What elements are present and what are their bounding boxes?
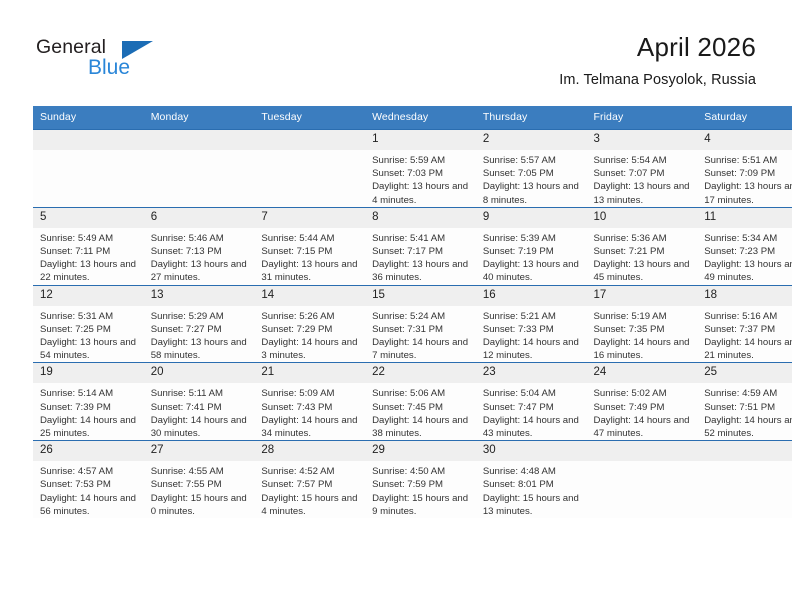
calendar-day-cell[interactable]: 17Sunrise: 5:19 AMSunset: 7:35 PMDayligh… xyxy=(587,285,698,363)
day-number: 16 xyxy=(476,286,587,306)
sunrise-text: Sunrise: 5:04 AM xyxy=(483,387,582,400)
daylight-text: Daylight: 13 hours and 58 minutes. xyxy=(151,336,250,362)
day-details: Sunrise: 5:34 AMSunset: 7:23 PMDaylight:… xyxy=(697,228,792,285)
day-details: Sunrise: 5:54 AMSunset: 7:07 PMDaylight:… xyxy=(587,150,698,207)
sunset-text: Sunset: 7:23 PM xyxy=(704,245,792,258)
sunset-text: Sunset: 7:31 PM xyxy=(372,323,471,336)
sunrise-text: Sunrise: 5:24 AM xyxy=(372,310,471,323)
daylight-text: Daylight: 13 hours and 49 minutes. xyxy=(704,258,792,284)
day-details: Sunrise: 5:16 AMSunset: 7:37 PMDaylight:… xyxy=(697,306,792,363)
daylight-text: Daylight: 14 hours and 56 minutes. xyxy=(40,492,139,518)
sunset-text: Sunset: 7:27 PM xyxy=(151,323,250,336)
title-block: April 2026 Im. Telmana Posyolok, Russia xyxy=(559,32,756,90)
calendar-cell-empty xyxy=(254,130,365,208)
day-details: Sunrise: 5:09 AMSunset: 7:43 PMDaylight:… xyxy=(254,383,365,440)
weekday-header-friday: Friday xyxy=(587,106,698,130)
calendar-day-cell[interactable]: 15Sunrise: 5:24 AMSunset: 7:31 PMDayligh… xyxy=(365,285,476,363)
calendar-day-cell[interactable]: 25Sunrise: 4:59 AMSunset: 7:51 PMDayligh… xyxy=(697,363,792,441)
calendar-day-cell[interactable]: 12Sunrise: 5:31 AMSunset: 7:25 PMDayligh… xyxy=(33,285,144,363)
calendar-week-row: 1Sunrise: 5:59 AMSunset: 7:03 PMDaylight… xyxy=(33,130,792,208)
daylight-text: Daylight: 15 hours and 0 minutes. xyxy=(151,492,250,518)
day-details: Sunrise: 5:51 AMSunset: 7:09 PMDaylight:… xyxy=(697,150,792,207)
sunset-text: Sunset: 7:19 PM xyxy=(483,245,582,258)
sunset-text: Sunset: 7:55 PM xyxy=(151,478,250,491)
sunrise-text: Sunrise: 4:55 AM xyxy=(151,465,250,478)
sunrise-text: Sunrise: 4:50 AM xyxy=(372,465,471,478)
sunset-text: Sunset: 7:11 PM xyxy=(40,245,139,258)
day-details: Sunrise: 5:36 AMSunset: 7:21 PMDaylight:… xyxy=(587,228,698,285)
sunset-text: Sunset: 7:39 PM xyxy=(40,401,139,414)
calendar-day-cell[interactable]: 13Sunrise: 5:29 AMSunset: 7:27 PMDayligh… xyxy=(144,285,255,363)
day-details: Sunrise: 5:29 AMSunset: 7:27 PMDaylight:… xyxy=(144,306,255,363)
day-details: Sunrise: 5:41 AMSunset: 7:17 PMDaylight:… xyxy=(365,228,476,285)
day-number: 14 xyxy=(254,286,365,306)
sunrise-text: Sunrise: 5:34 AM xyxy=(704,232,792,245)
sunset-text: Sunset: 7:09 PM xyxy=(704,167,792,180)
sunrise-text: Sunrise: 5:46 AM xyxy=(151,232,250,245)
sunset-text: Sunset: 7:57 PM xyxy=(261,478,360,491)
calendar-grid: Sunday Monday Tuesday Wednesday Thursday… xyxy=(33,106,792,518)
sunrise-text: Sunrise: 5:14 AM xyxy=(40,387,139,400)
page-header: General Blue April 2026 Im. Telmana Posy… xyxy=(0,0,792,106)
day-details: Sunrise: 5:11 AMSunset: 7:41 PMDaylight:… xyxy=(144,383,255,440)
daylight-text: Daylight: 13 hours and 54 minutes. xyxy=(40,336,139,362)
calendar-week-row: 12Sunrise: 5:31 AMSunset: 7:25 PMDayligh… xyxy=(33,285,792,363)
sunrise-text: Sunrise: 5:36 AM xyxy=(594,232,693,245)
day-number: 25 xyxy=(697,363,792,383)
sunset-text: Sunset: 7:41 PM xyxy=(151,401,250,414)
daylight-text: Daylight: 15 hours and 4 minutes. xyxy=(261,492,360,518)
calendar-day-cell[interactable]: 7Sunrise: 5:44 AMSunset: 7:15 PMDaylight… xyxy=(254,207,365,285)
sunset-text: Sunset: 7:37 PM xyxy=(704,323,792,336)
sunset-text: Sunset: 7:51 PM xyxy=(704,401,792,414)
calendar-day-cell[interactable]: 19Sunrise: 5:14 AMSunset: 7:39 PMDayligh… xyxy=(33,363,144,441)
sunrise-text: Sunrise: 5:39 AM xyxy=(483,232,582,245)
daylight-text: Daylight: 14 hours and 21 minutes. xyxy=(704,336,792,362)
day-number: 6 xyxy=(144,208,255,228)
day-details: Sunrise: 5:59 AMSunset: 7:03 PMDaylight:… xyxy=(365,150,476,207)
day-details: Sunrise: 5:49 AMSunset: 7:11 PMDaylight:… xyxy=(33,228,144,285)
day-details: Sunrise: 5:44 AMSunset: 7:15 PMDaylight:… xyxy=(254,228,365,285)
daylight-text: Daylight: 13 hours and 31 minutes. xyxy=(261,258,360,284)
day-details: Sunrise: 5:19 AMSunset: 7:35 PMDaylight:… xyxy=(587,306,698,363)
calendar-day-cell[interactable]: 20Sunrise: 5:11 AMSunset: 7:41 PMDayligh… xyxy=(144,363,255,441)
day-details: Sunrise: 5:46 AMSunset: 7:13 PMDaylight:… xyxy=(144,228,255,285)
page-title: April 2026 xyxy=(559,32,756,62)
daylight-text: Daylight: 14 hours and 52 minutes. xyxy=(704,414,792,440)
sunrise-text: Sunrise: 5:19 AM xyxy=(594,310,693,323)
day-number: 2 xyxy=(476,130,587,150)
calendar-cell-empty xyxy=(587,441,698,518)
calendar-week-row: 26Sunrise: 4:57 AMSunset: 7:53 PMDayligh… xyxy=(33,441,792,518)
sunrise-text: Sunrise: 5:59 AM xyxy=(372,154,471,167)
day-details: Sunrise: 5:02 AMSunset: 7:49 PMDaylight:… xyxy=(587,383,698,440)
day-number: 22 xyxy=(365,363,476,383)
daylight-text: Daylight: 13 hours and 8 minutes. xyxy=(483,180,582,206)
calendar-day-cell[interactable]: 23Sunrise: 5:04 AMSunset: 7:47 PMDayligh… xyxy=(476,363,587,441)
day-number: 8 xyxy=(365,208,476,228)
day-number: 3 xyxy=(587,130,698,150)
day-number: 19 xyxy=(33,363,144,383)
day-number: 17 xyxy=(587,286,698,306)
weekday-header-wednesday: Wednesday xyxy=(365,106,476,130)
day-number xyxy=(254,130,365,150)
daylight-text: Daylight: 13 hours and 13 minutes. xyxy=(594,180,693,206)
day-number: 5 xyxy=(33,208,144,228)
daylight-text: Daylight: 14 hours and 43 minutes. xyxy=(483,414,582,440)
sunrise-text: Sunrise: 5:54 AM xyxy=(594,154,693,167)
day-number: 20 xyxy=(144,363,255,383)
sunset-text: Sunset: 7:35 PM xyxy=(594,323,693,336)
sunrise-text: Sunrise: 5:02 AM xyxy=(594,387,693,400)
calendar-day-cell[interactable]: 27Sunrise: 4:55 AMSunset: 7:55 PMDayligh… xyxy=(144,441,255,518)
day-number xyxy=(144,130,255,150)
sunset-text: Sunset: 7:47 PM xyxy=(483,401,582,414)
daylight-text: Daylight: 13 hours and 22 minutes. xyxy=(40,258,139,284)
sunset-text: Sunset: 8:01 PM xyxy=(483,478,582,491)
calendar-day-cell[interactable]: 2Sunrise: 5:57 AMSunset: 7:05 PMDaylight… xyxy=(476,130,587,208)
day-details: Sunrise: 5:57 AMSunset: 7:05 PMDaylight:… xyxy=(476,150,587,207)
sunrise-text: Sunrise: 4:59 AM xyxy=(704,387,792,400)
sunset-text: Sunset: 7:33 PM xyxy=(483,323,582,336)
day-number: 27 xyxy=(144,441,255,461)
sunrise-text: Sunrise: 5:09 AM xyxy=(261,387,360,400)
sunset-text: Sunset: 7:17 PM xyxy=(372,245,471,258)
sunset-text: Sunset: 7:07 PM xyxy=(594,167,693,180)
day-number: 29 xyxy=(365,441,476,461)
day-number: 26 xyxy=(33,441,144,461)
day-number xyxy=(697,441,792,461)
day-number: 13 xyxy=(144,286,255,306)
day-number: 15 xyxy=(365,286,476,306)
calendar-day-cell[interactable]: 29Sunrise: 4:50 AMSunset: 7:59 PMDayligh… xyxy=(365,441,476,518)
sunset-text: Sunset: 7:43 PM xyxy=(261,401,360,414)
day-number: 4 xyxy=(697,130,792,150)
sunset-text: Sunset: 7:25 PM xyxy=(40,323,139,336)
calendar-day-cell[interactable]: 14Sunrise: 5:26 AMSunset: 7:29 PMDayligh… xyxy=(254,285,365,363)
sunrise-text: Sunrise: 5:11 AM xyxy=(151,387,250,400)
daylight-text: Daylight: 14 hours and 47 minutes. xyxy=(594,414,693,440)
weekday-header-saturday: Saturday xyxy=(697,106,792,130)
weekday-header-thursday: Thursday xyxy=(476,106,587,130)
weekday-header-tuesday: Tuesday xyxy=(254,106,365,130)
calendar-day-cell[interactable]: 30Sunrise: 4:48 AMSunset: 8:01 PMDayligh… xyxy=(476,441,587,518)
sunrise-text: Sunrise: 5:57 AM xyxy=(483,154,582,167)
day-number: 1 xyxy=(365,130,476,150)
weekday-header-monday: Monday xyxy=(144,106,255,130)
sunrise-text: Sunrise: 4:52 AM xyxy=(261,465,360,478)
day-details: Sunrise: 4:59 AMSunset: 7:51 PMDaylight:… xyxy=(697,383,792,440)
daylight-text: Daylight: 13 hours and 4 minutes. xyxy=(372,180,471,206)
day-number xyxy=(587,441,698,461)
daylight-text: Daylight: 13 hours and 27 minutes. xyxy=(151,258,250,284)
day-number: 30 xyxy=(476,441,587,461)
sunrise-text: Sunrise: 5:06 AM xyxy=(372,387,471,400)
day-details: Sunrise: 5:31 AMSunset: 7:25 PMDaylight:… xyxy=(33,306,144,363)
day-details: Sunrise: 4:55 AMSunset: 7:55 PMDaylight:… xyxy=(144,461,255,518)
day-number: 10 xyxy=(587,208,698,228)
sunrise-text: Sunrise: 4:48 AM xyxy=(483,465,582,478)
daylight-text: Daylight: 14 hours and 25 minutes. xyxy=(40,414,139,440)
daylight-text: Daylight: 14 hours and 34 minutes. xyxy=(261,414,360,440)
calendar-day-cell[interactable]: 5Sunrise: 5:49 AMSunset: 7:11 PMDaylight… xyxy=(33,207,144,285)
calendar-day-cell[interactable]: 28Sunrise: 4:52 AMSunset: 7:57 PMDayligh… xyxy=(254,441,365,518)
calendar-day-cell[interactable]: 16Sunrise: 5:21 AMSunset: 7:33 PMDayligh… xyxy=(476,285,587,363)
calendar-body: 1Sunrise: 5:59 AMSunset: 7:03 PMDaylight… xyxy=(33,130,792,519)
sunrise-text: Sunrise: 5:51 AM xyxy=(704,154,792,167)
sunset-text: Sunset: 7:53 PM xyxy=(40,478,139,491)
day-details: Sunrise: 5:06 AMSunset: 7:45 PMDaylight:… xyxy=(365,383,476,440)
calendar-cell-empty xyxy=(33,130,144,208)
sunset-text: Sunset: 7:15 PM xyxy=(261,245,360,258)
sunset-text: Sunset: 7:21 PM xyxy=(594,245,693,258)
sunrise-text: Sunrise: 5:44 AM xyxy=(261,232,360,245)
weekday-header-sunday: Sunday xyxy=(33,106,144,130)
calendar-day-cell[interactable]: 22Sunrise: 5:06 AMSunset: 7:45 PMDayligh… xyxy=(365,363,476,441)
daylight-text: Daylight: 15 hours and 9 minutes. xyxy=(372,492,471,518)
day-number: 24 xyxy=(587,363,698,383)
sunset-text: Sunset: 7:59 PM xyxy=(372,478,471,491)
sunrise-text: Sunrise: 5:29 AM xyxy=(151,310,250,323)
sunset-text: Sunset: 7:13 PM xyxy=(151,245,250,258)
calendar-week-row: 5Sunrise: 5:49 AMSunset: 7:11 PMDaylight… xyxy=(33,207,792,285)
calendar-day-cell[interactable]: 26Sunrise: 4:57 AMSunset: 7:53 PMDayligh… xyxy=(33,441,144,518)
calendar-day-cell[interactable]: 8Sunrise: 5:41 AMSunset: 7:17 PMDaylight… xyxy=(365,207,476,285)
daylight-text: Daylight: 13 hours and 40 minutes. xyxy=(483,258,582,284)
sunrise-text: Sunrise: 5:41 AM xyxy=(372,232,471,245)
logo-text-blue: Blue xyxy=(88,56,130,80)
calendar-cell-empty xyxy=(697,441,792,518)
day-number: 23 xyxy=(476,363,587,383)
day-number: 11 xyxy=(697,208,792,228)
day-number xyxy=(33,130,144,150)
calendar-day-cell[interactable]: 24Sunrise: 5:02 AMSunset: 7:49 PMDayligh… xyxy=(587,363,698,441)
calendar-day-cell[interactable]: 6Sunrise: 5:46 AMSunset: 7:13 PMDaylight… xyxy=(144,207,255,285)
day-details: Sunrise: 5:04 AMSunset: 7:47 PMDaylight:… xyxy=(476,383,587,440)
sunrise-text: Sunrise: 4:57 AM xyxy=(40,465,139,478)
calendar-week-row: 19Sunrise: 5:14 AMSunset: 7:39 PMDayligh… xyxy=(33,363,792,441)
day-number: 12 xyxy=(33,286,144,306)
day-number: 28 xyxy=(254,441,365,461)
day-details: Sunrise: 4:48 AMSunset: 8:01 PMDaylight:… xyxy=(476,461,587,518)
day-number: 18 xyxy=(697,286,792,306)
daylight-text: Daylight: 14 hours and 7 minutes. xyxy=(372,336,471,362)
day-details: Sunrise: 5:21 AMSunset: 7:33 PMDaylight:… xyxy=(476,306,587,363)
day-details: Sunrise: 4:57 AMSunset: 7:53 PMDaylight:… xyxy=(33,461,144,518)
sunrise-text: Sunrise: 5:26 AM xyxy=(261,310,360,323)
day-details: Sunrise: 5:24 AMSunset: 7:31 PMDaylight:… xyxy=(365,306,476,363)
calendar-day-cell[interactable]: 1Sunrise: 5:59 AMSunset: 7:03 PMDaylight… xyxy=(365,130,476,208)
sunset-text: Sunset: 7:05 PM xyxy=(483,167,582,180)
daylight-text: Daylight: 14 hours and 3 minutes. xyxy=(261,336,360,362)
day-details: Sunrise: 4:52 AMSunset: 7:57 PMDaylight:… xyxy=(254,461,365,518)
sunset-text: Sunset: 7:29 PM xyxy=(261,323,360,336)
day-details: Sunrise: 5:39 AMSunset: 7:19 PMDaylight:… xyxy=(476,228,587,285)
calendar-day-cell[interactable]: 3Sunrise: 5:54 AMSunset: 7:07 PMDaylight… xyxy=(587,130,698,208)
calendar-cell-empty xyxy=(144,130,255,208)
sunset-text: Sunset: 7:49 PM xyxy=(594,401,693,414)
calendar-day-cell[interactable]: 4Sunrise: 5:51 AMSunset: 7:09 PMDaylight… xyxy=(697,130,792,208)
sunrise-text: Sunrise: 5:16 AM xyxy=(704,310,792,323)
sunrise-text: Sunrise: 5:49 AM xyxy=(40,232,139,245)
calendar-day-cell[interactable]: 21Sunrise: 5:09 AMSunset: 7:43 PMDayligh… xyxy=(254,363,365,441)
day-number: 21 xyxy=(254,363,365,383)
sunset-text: Sunset: 7:45 PM xyxy=(372,401,471,414)
daylight-text: Daylight: 14 hours and 16 minutes. xyxy=(594,336,693,362)
general-blue-logo: General Blue xyxy=(36,36,176,84)
daylight-text: Daylight: 14 hours and 30 minutes. xyxy=(151,414,250,440)
sunrise-text: Sunrise: 5:21 AM xyxy=(483,310,582,323)
daylight-text: Daylight: 14 hours and 38 minutes. xyxy=(372,414,471,440)
day-number: 7 xyxy=(254,208,365,228)
daylight-text: Daylight: 13 hours and 45 minutes. xyxy=(594,258,693,284)
calendar-day-cell[interactable]: 11Sunrise: 5:34 AMSunset: 7:23 PMDayligh… xyxy=(697,207,792,285)
calendar-page: General Blue April 2026 Im. Telmana Posy… xyxy=(0,0,792,612)
daylight-text: Daylight: 15 hours and 13 minutes. xyxy=(483,492,582,518)
daylight-text: Daylight: 14 hours and 12 minutes. xyxy=(483,336,582,362)
day-details: Sunrise: 5:26 AMSunset: 7:29 PMDaylight:… xyxy=(254,306,365,363)
daylight-text: Daylight: 13 hours and 36 minutes. xyxy=(372,258,471,284)
day-number: 9 xyxy=(476,208,587,228)
location-subtitle: Im. Telmana Posyolok, Russia xyxy=(559,70,756,90)
daylight-text: Daylight: 13 hours and 17 minutes. xyxy=(704,180,792,206)
sunrise-text: Sunrise: 5:31 AM xyxy=(40,310,139,323)
day-details: Sunrise: 4:50 AMSunset: 7:59 PMDaylight:… xyxy=(365,461,476,518)
calendar-day-cell[interactable]: 9Sunrise: 5:39 AMSunset: 7:19 PMDaylight… xyxy=(476,207,587,285)
calendar-day-cell[interactable]: 10Sunrise: 5:36 AMSunset: 7:21 PMDayligh… xyxy=(587,207,698,285)
day-details: Sunrise: 5:14 AMSunset: 7:39 PMDaylight:… xyxy=(33,383,144,440)
weekday-header-row: Sunday Monday Tuesday Wednesday Thursday… xyxy=(33,106,792,130)
sunset-text: Sunset: 7:03 PM xyxy=(372,167,471,180)
calendar-day-cell[interactable]: 18Sunrise: 5:16 AMSunset: 7:37 PMDayligh… xyxy=(697,285,792,363)
